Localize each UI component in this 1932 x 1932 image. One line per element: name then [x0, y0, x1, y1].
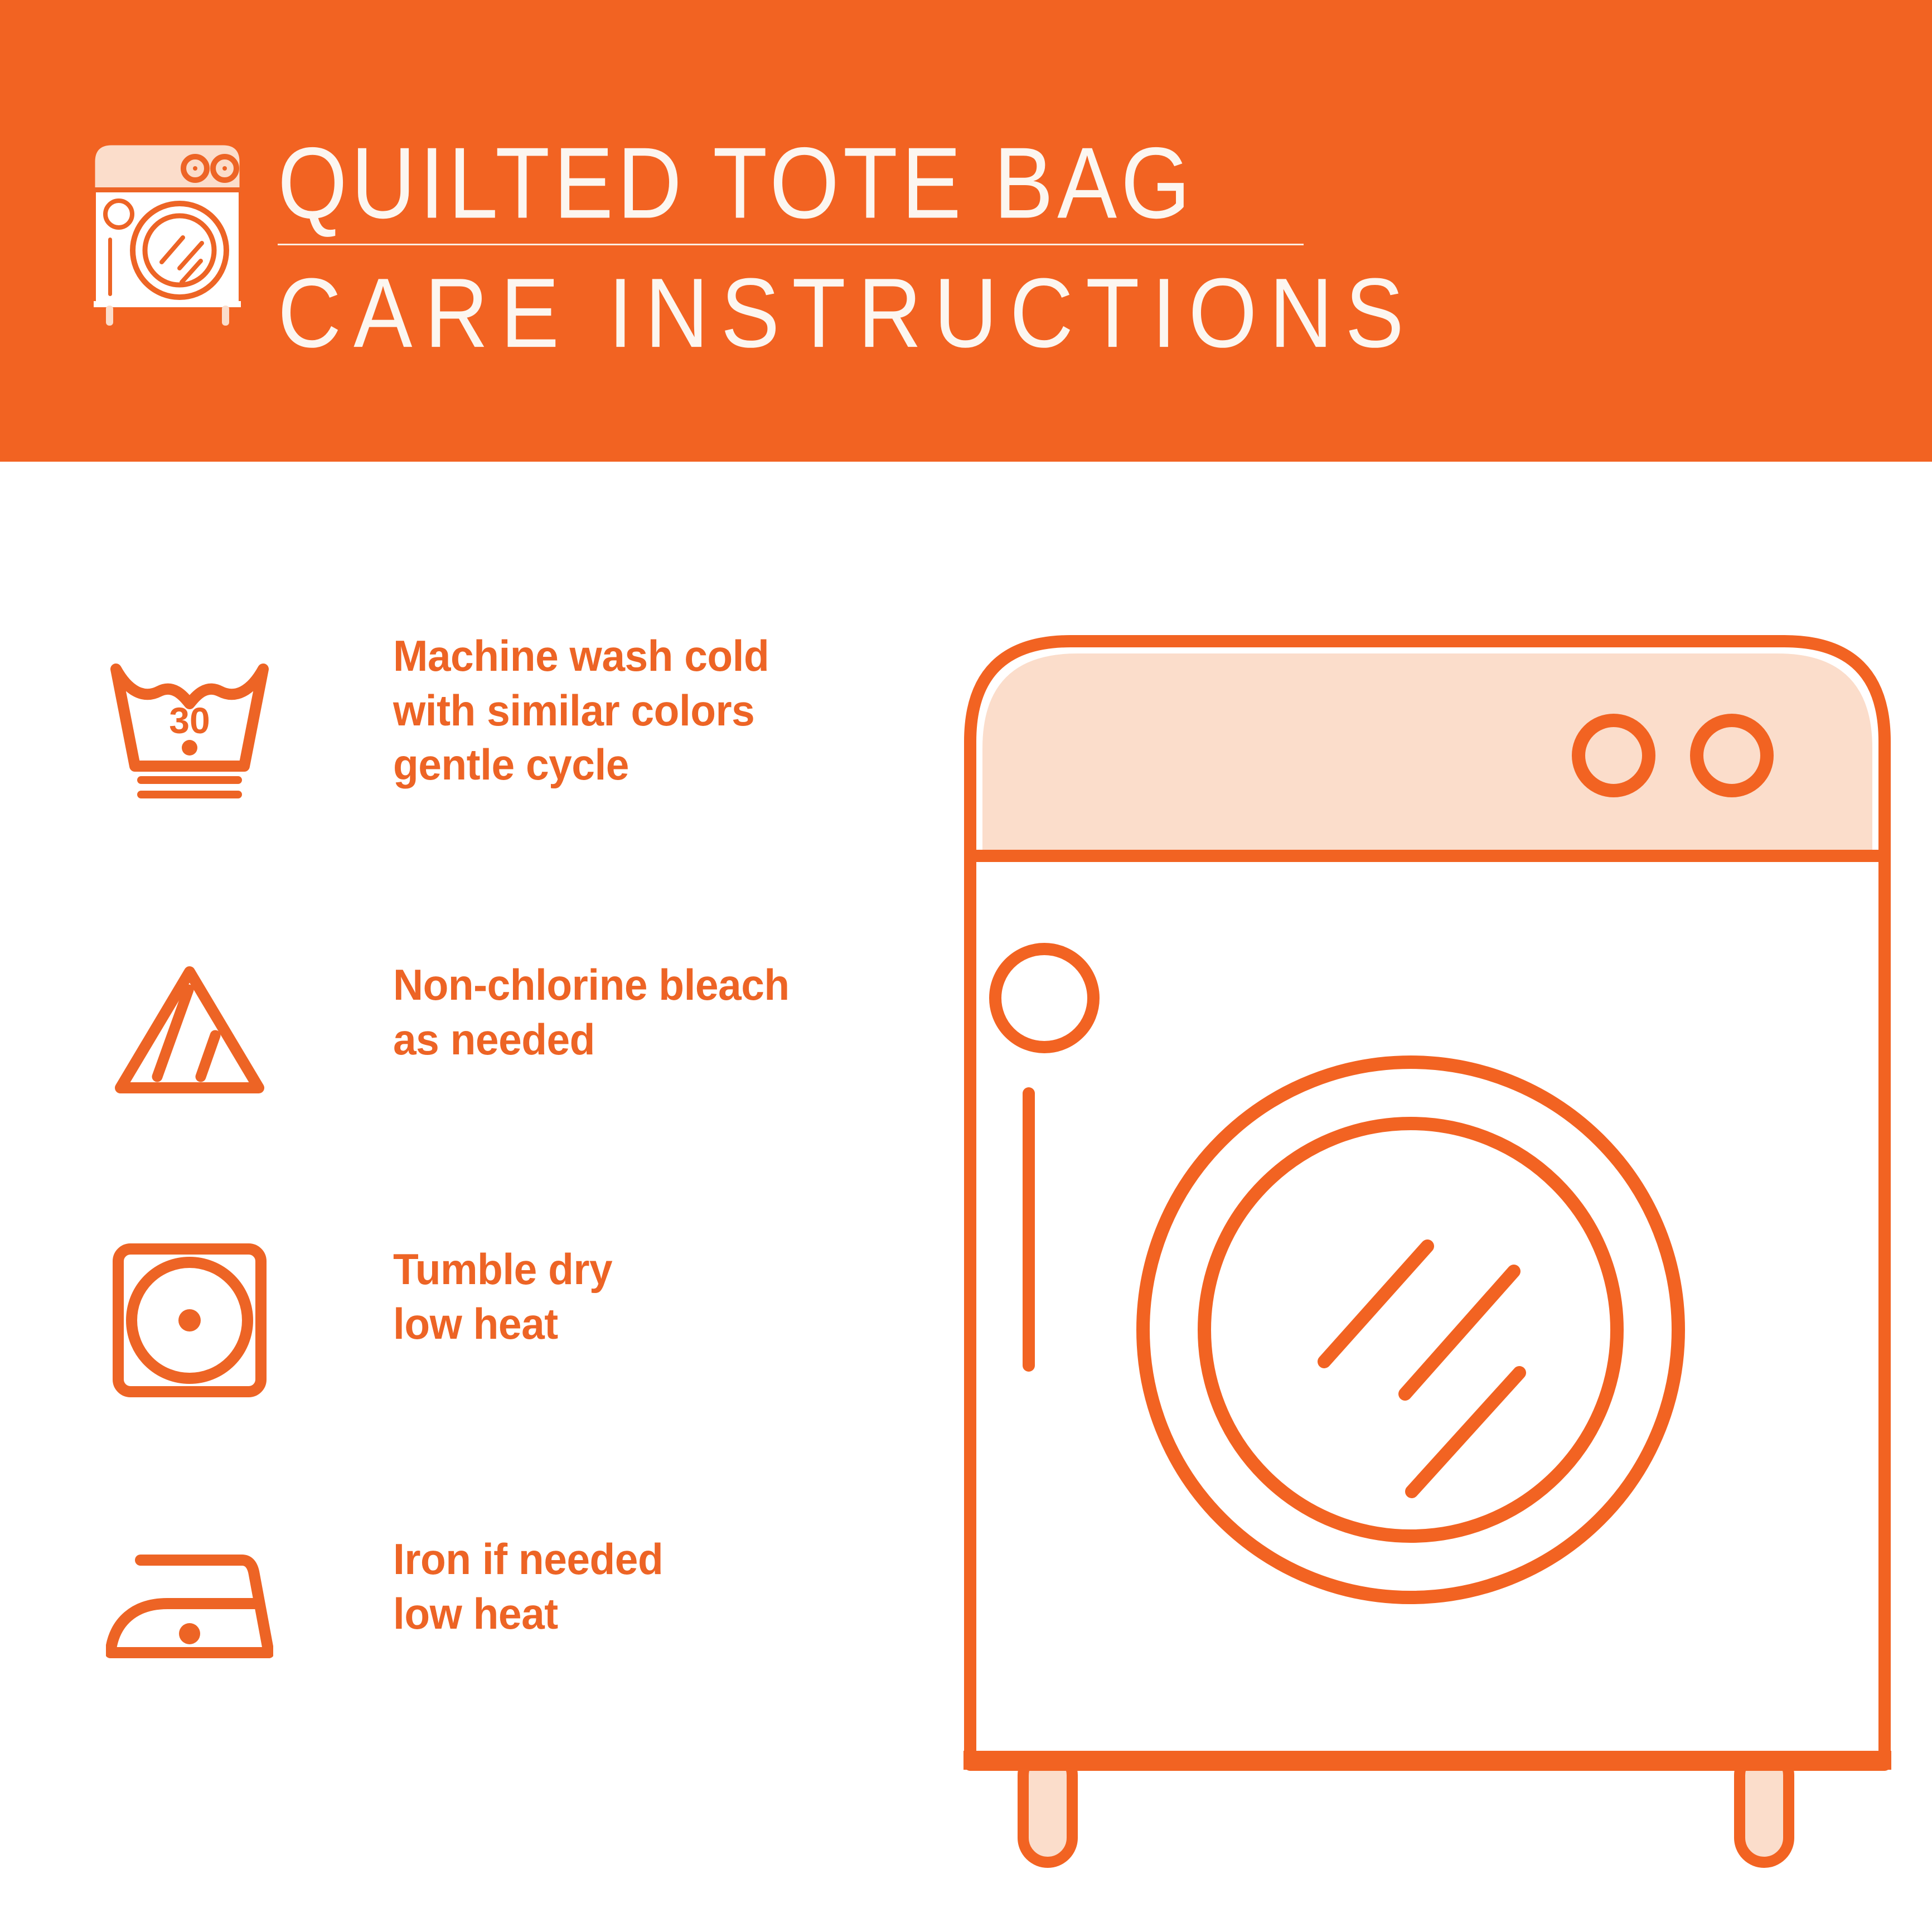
iron-low-heat-icon — [106, 1543, 273, 1672]
header-divider — [278, 244, 1304, 245]
care-label-wash: Machine wash cold with similar colors ge… — [393, 629, 769, 792]
care-label-line: low heat — [393, 1297, 612, 1352]
header-text-block: QUILTED TOTE BAG CARE INSTRUCTIONS — [278, 132, 1337, 353]
header-band: QUILTED TOTE BAG CARE INSTRUCTIONS — [0, 0, 1932, 462]
care-label-line: gentle cycle — [393, 738, 769, 792]
care-symbol-wash: 30 — [72, 646, 307, 813]
non-chlorine-bleach-triangle-icon — [106, 961, 273, 1100]
page-subtitle: CARE INSTRUCTIONS — [278, 263, 1337, 364]
care-label-line: Non-chlorine bleach — [393, 958, 790, 1013]
care-symbol-tumble-dry — [72, 1237, 307, 1404]
care-instructions-list: 30 Machine wash cold with similar colors… — [0, 462, 976, 1932]
care-label-line: Iron if needed — [393, 1532, 663, 1587]
care-label-line: Machine wash cold — [393, 629, 769, 684]
page-title: QUILTED TOTE BAG — [278, 132, 1326, 235]
care-label-line: with similar colors — [393, 684, 769, 738]
wash-temperature-value: 30 — [169, 700, 210, 741]
header-content: QUILTED TOTE BAG CARE INSTRUCTIONS — [84, 132, 1338, 355]
care-label-line: as needed — [393, 1013, 790, 1067]
care-label-line: Tumble dry — [393, 1242, 612, 1297]
care-label-tumble-dry: Tumble dry low heat — [393, 1242, 612, 1351]
care-label-iron: Iron if needed low heat — [393, 1532, 663, 1641]
tumble-dry-low-icon — [106, 1237, 273, 1404]
front-load-washing-machine-illustration — [959, 619, 1896, 1879]
care-symbol-iron — [72, 1524, 307, 1691]
care-instructions-page: QUILTED TOTE BAG CARE INSTRUCTIONS 30 Ma… — [0, 0, 1932, 1932]
care-symbol-bleach — [72, 947, 307, 1114]
washing-machine-icon — [84, 136, 251, 331]
care-label-line: low heat — [393, 1587, 663, 1642]
wash-tub-30-gentle-icon: 30 — [106, 657, 273, 802]
care-label-bleach: Non-chlorine bleach as needed — [393, 958, 790, 1067]
